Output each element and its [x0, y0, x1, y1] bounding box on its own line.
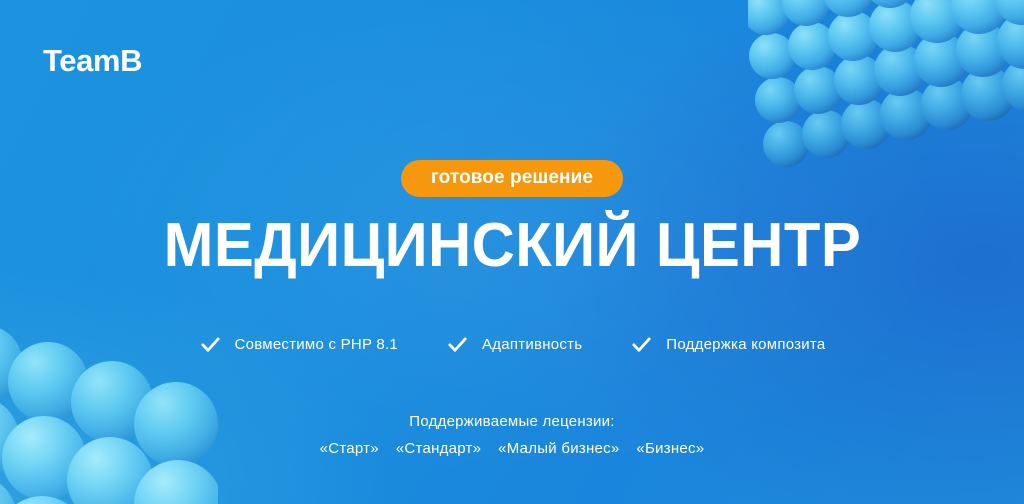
license-item: «Старт» [320, 441, 379, 456]
license-item: «Стандарт» [396, 441, 481, 456]
check-icon [446, 333, 469, 356]
page-title: МЕДИЦИНСКИЙ ЦЕНТР [163, 213, 860, 278]
check-icon [630, 333, 653, 356]
license-item: «Бизнес» [636, 441, 704, 456]
feature-item: Адаптивность [446, 333, 582, 356]
brand-logo[interactable]: TeamB [43, 45, 142, 76]
feature-item: Совместимо с PHP 8.1 [199, 333, 398, 356]
check-icon [199, 333, 222, 356]
feature-label: Совместимо с PHP 8.1 [235, 337, 398, 352]
feature-label: Поддержка композита [666, 337, 825, 352]
license-item: «Малый бизнес» [498, 441, 619, 456]
feature-list: Совместимо с PHP 8.1 Адаптивность Поддер… [0, 333, 1024, 356]
feature-item: Поддержка композита [630, 333, 825, 356]
solution-badge: готовое решение [401, 160, 623, 197]
licenses-title: Поддерживаемые лецензии: [409, 414, 614, 429]
feature-label: Адаптивность [482, 337, 582, 352]
promo-banner: TeamB готовое решение МЕДИЦИНСКИЙ ЦЕНТР … [0, 0, 1024, 504]
licenses-row: «Старт» «Стандарт» «Малый бизнес» «Бизне… [320, 441, 705, 456]
licenses-section: Поддерживаемые лецензии: «Старт» «Станда… [0, 414, 1024, 456]
hero-section: готовое решение МЕДИЦИНСКИЙ ЦЕНТР [0, 160, 1024, 278]
